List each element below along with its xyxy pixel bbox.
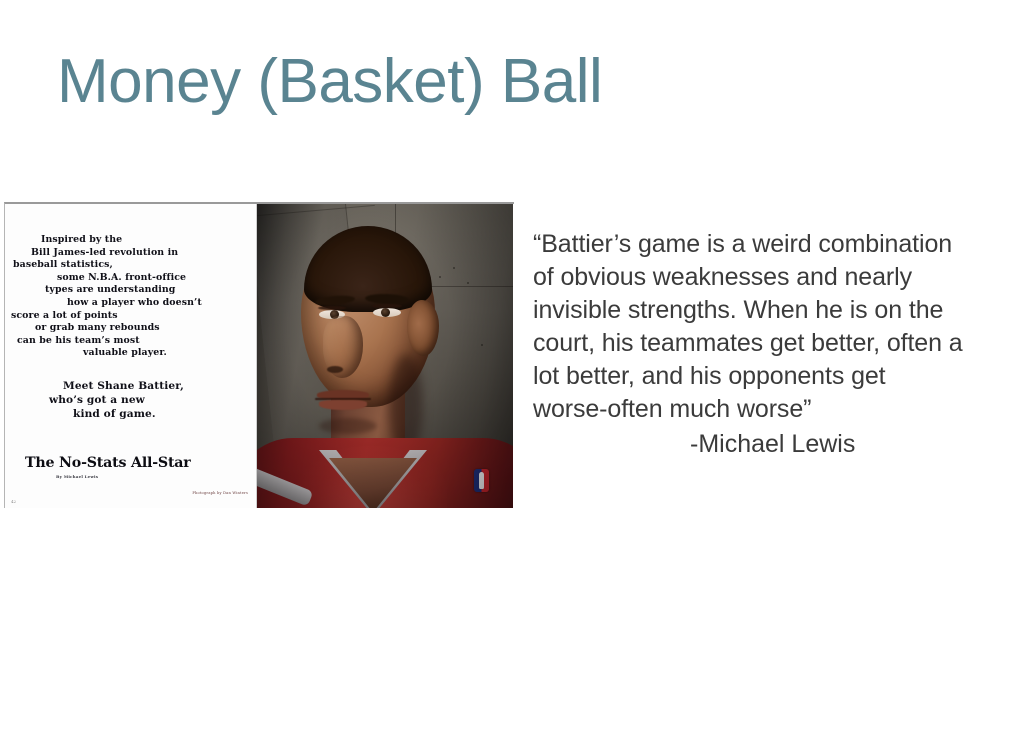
deck-line: baseball statistics, [5,259,248,272]
magazine-deck: Inspired by the Bill James-led revolutio… [5,234,248,360]
deck-line: some N.B.A. front-office [5,272,248,285]
page-title: Money (Basket) Ball [57,45,602,119]
magazine-headline: The No-Stats All-Star [25,455,191,471]
deck-line: valuable player. [5,347,248,360]
quote-block: “Battier’s game is a weird combination o… [533,228,965,461]
quote-attribution: -Michael Lewis [533,428,965,461]
magazine-kicker: Meet Shane Battier, who’s got a new kind… [5,379,248,421]
magazine-byline: By Michael Lewis [56,474,98,479]
quote-text: “Battier’s game is a weird combination o… [533,228,965,426]
kicker-line: Meet Shane Battier, [5,379,248,393]
deck-line: types are understanding [5,284,248,297]
magazine-spread-image: Inspired by the Bill James-led revolutio… [4,202,514,508]
magazine-photo-credit: Photograph by Dan Winters [192,491,248,496]
kicker-line: who’s got a new [5,393,248,407]
photo-vignette [257,204,513,508]
magazine-folio: 42 [11,499,16,504]
magazine-left-page: Inspired by the Bill James-led revolutio… [5,204,257,508]
deck-line: Bill James-led revolution in [5,247,248,260]
deck-line: how a player who doesn’t [5,297,248,310]
kicker-line: kind of game. [5,407,248,421]
deck-line: or grab many rebounds [5,322,248,335]
deck-line: score a lot of points [5,310,248,323]
magazine-right-page-photo [257,204,513,508]
deck-line: can be his team’s most [5,335,248,348]
deck-line: Inspired by the [5,234,248,247]
